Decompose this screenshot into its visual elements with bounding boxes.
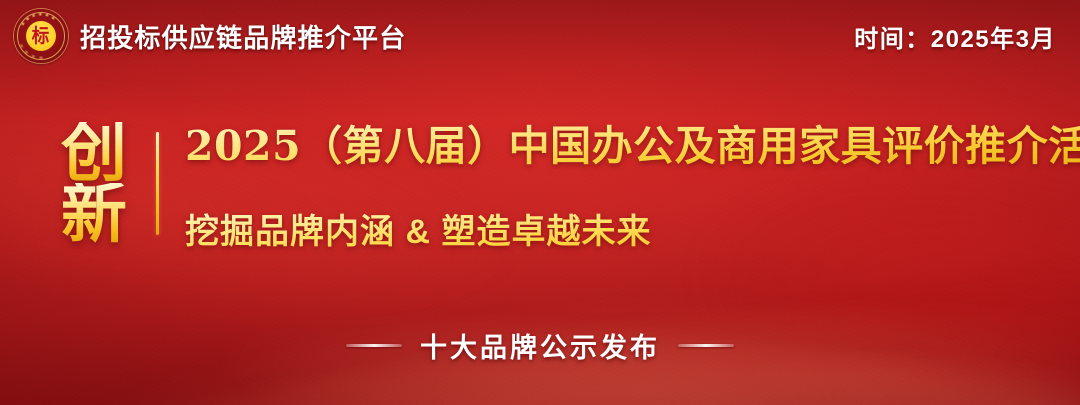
title-stack: 2025（第八届）中国办公及商用家具评价推介活动 挖掘品牌内涵 & 塑造卓越未来 <box>185 112 1080 253</box>
footer-rule-right <box>678 344 734 347</box>
event-headline: 2025（第八届）中国办公及商用家具评价推介活动 <box>185 112 1080 172</box>
kicker-char-2: 新 <box>61 183 127 244</box>
event-date-label: 时间：2025年3月 <box>854 19 1056 54</box>
footer-rule-left <box>346 344 402 347</box>
logo-core-disc: 标 <box>26 21 56 51</box>
event-subline: 挖掘品牌内涵 & 塑造卓越未来 <box>185 204 1080 253</box>
logo-core-glyph: 标 <box>32 27 49 46</box>
vertical-divider <box>156 132 159 235</box>
banner-footer: 十大品牌公示发布 <box>0 326 1080 365</box>
promo-banner: 标 招投标供应链品牌推介平台 时间：2025年3月 创 新 2025（第八届）中… <box>0 0 1080 405</box>
brand-lockup: 标 招投标供应链品牌推介平台 <box>14 9 406 63</box>
platform-title: 招投标供应链品牌推介平台 <box>80 18 406 55</box>
main-title-block: 创 新 2025（第八届）中国办公及商用家具评价推介活动 挖掘品牌内涵 & 塑造… <box>52 112 1080 253</box>
banner-header: 标 招投标供应链品牌推介平台 时间：2025年3月 <box>0 0 1080 72</box>
platform-seal-logo-icon: 标 <box>14 9 68 63</box>
footer-announcement: 十大品牌公示发布 <box>420 326 660 365</box>
kicker-chuangxin: 创 新 <box>52 112 136 253</box>
